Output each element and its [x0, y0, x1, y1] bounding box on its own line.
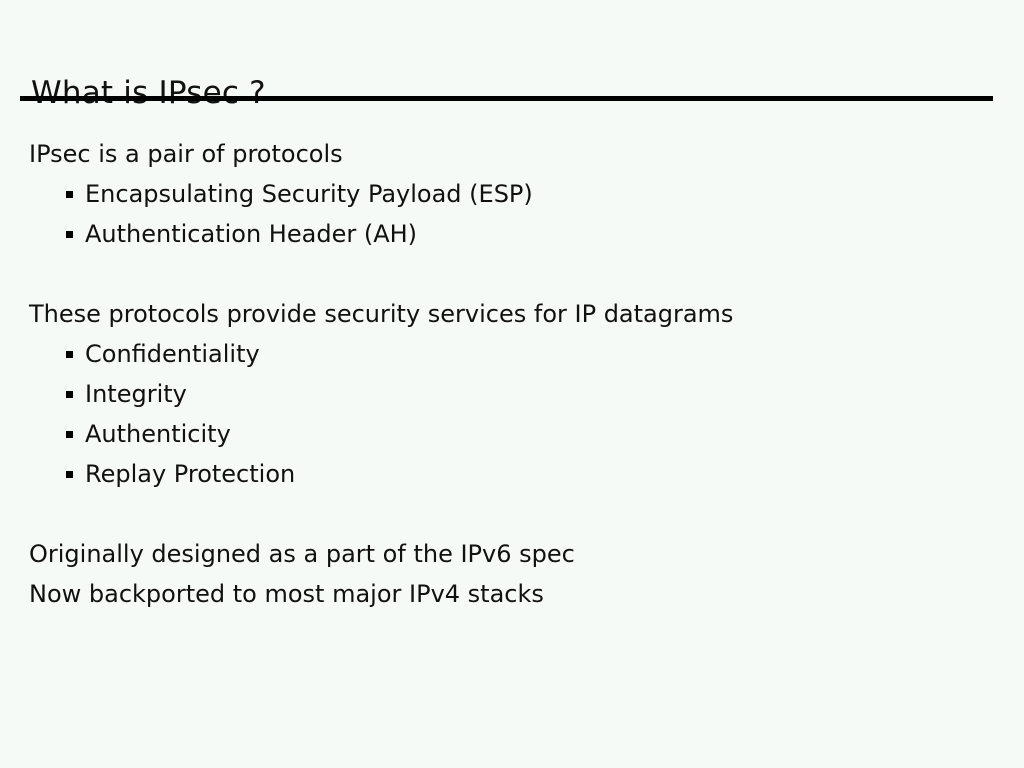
- list-item: Confidentiality: [0, 334, 1024, 374]
- square-bullet-icon: [66, 191, 73, 198]
- block-lead-text: These protocols provide security service…: [0, 294, 1024, 334]
- title-divider: [20, 96, 993, 101]
- square-bullet-icon: [66, 431, 73, 438]
- list-item: Integrity: [0, 374, 1024, 414]
- list-item-label: Encapsulating Security Payload (ESP): [85, 180, 533, 208]
- list-item-label: Replay Protection: [85, 460, 295, 488]
- slide-canvas: What is IPsec ? IPsec is a pair of proto…: [0, 0, 1024, 768]
- square-bullet-icon: [66, 471, 73, 478]
- list-item-label: Integrity: [85, 380, 187, 408]
- content-block-protocols: IPsec is a pair of protocols Encapsulati…: [0, 134, 1024, 254]
- square-bullet-icon: [66, 351, 73, 358]
- bullet-list: Encapsulating Security Payload (ESP) Aut…: [0, 174, 1024, 254]
- list-item-label: Confidentiality: [85, 340, 260, 368]
- slide-body: IPsec is a pair of protocols Encapsulati…: [0, 134, 1024, 614]
- page-title: What is IPsec ?: [31, 73, 266, 113]
- block-lead-text: IPsec is a pair of protocols: [0, 134, 1024, 174]
- square-bullet-icon: [66, 231, 73, 238]
- list-item: Authentication Header (AH): [0, 214, 1024, 254]
- list-item: Replay Protection: [0, 454, 1024, 494]
- content-block-services: These protocols provide security service…: [0, 294, 1024, 494]
- list-item: Originally designed as a part of the IPv…: [0, 534, 1024, 574]
- list-item: Encapsulating Security Payload (ESP): [0, 174, 1024, 214]
- plain-line-list: Originally designed as a part of the IPv…: [0, 534, 1024, 614]
- list-item: Now backported to most major IPv4 stacks: [0, 574, 1024, 614]
- bullet-list: Confidentiality Integrity Authenticity R…: [0, 334, 1024, 494]
- list-item: Authenticity: [0, 414, 1024, 454]
- list-item-label: Authenticity: [85, 420, 231, 448]
- list-item-label: Authentication Header (AH): [85, 220, 417, 248]
- content-block-history: Originally designed as a part of the IPv…: [0, 534, 1024, 614]
- square-bullet-icon: [66, 391, 73, 398]
